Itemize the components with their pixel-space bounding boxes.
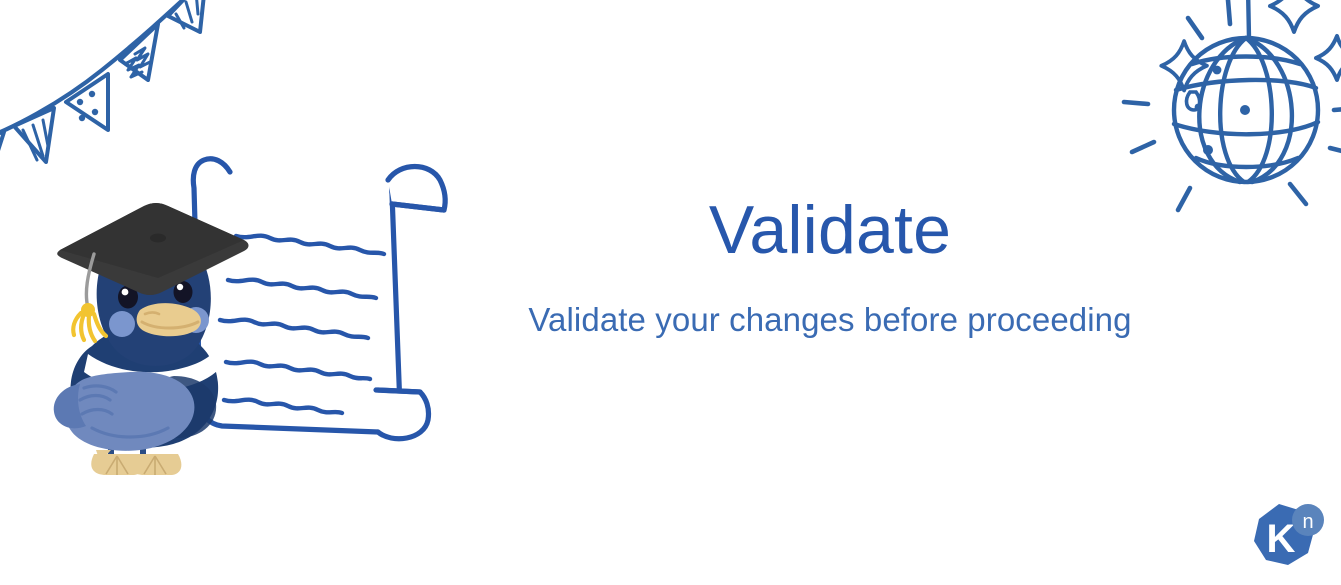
kn-brand-logo[interactable]: K n: [1246, 500, 1328, 572]
bird-cheek-left: [109, 311, 135, 337]
page-subtitle: Validate your changes before proceeding: [470, 302, 1190, 338]
diploma-scroll-icon: [193, 159, 445, 439]
slide-canvas: Validate Validate your changes before pr…: [0, 0, 1341, 585]
hero-text-block: Validate Validate your changes before pr…: [470, 196, 1190, 338]
logo-badge-letter-n: n: [1302, 511, 1313, 533]
logo-letter-k: K: [1267, 517, 1296, 561]
graduate-bird-with-diploma-scroll-illustration: [48, 132, 468, 477]
page-title: Validate: [470, 196, 1190, 264]
